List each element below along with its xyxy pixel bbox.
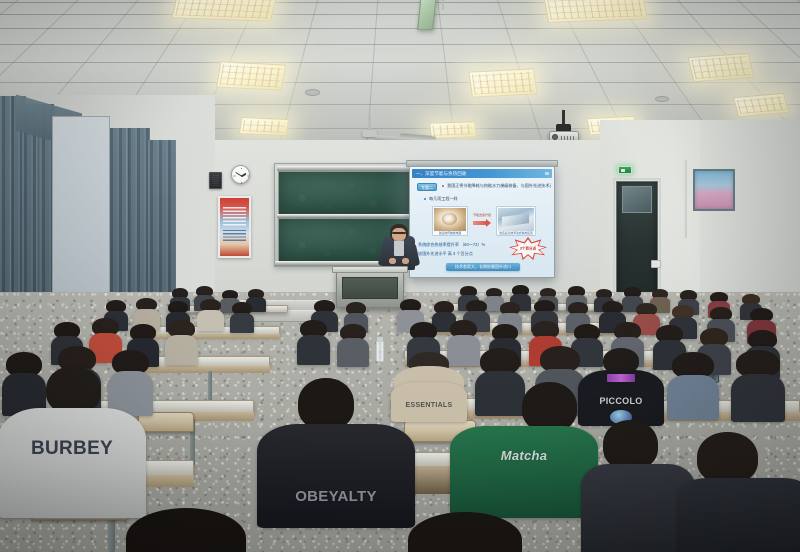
ceiling-light-7 [429, 121, 477, 139]
ceiling-light-3 [216, 61, 286, 90]
window-glass-left [52, 116, 110, 306]
lectern-top [332, 266, 408, 273]
ceiling-grid-line-h [0, 14, 800, 15]
slide-bullet-dot-1 [442, 185, 444, 187]
student-torso [667, 375, 719, 420]
slide-image-before-caption: 改造前传统换热器 [433, 231, 467, 235]
door-window [622, 186, 652, 213]
student-burbey: BURBEY [12, 366, 132, 516]
student-matcha: Matcha [464, 382, 584, 514]
student-torso [165, 335, 198, 365]
slide-image-before: 改造前传统换热器 [432, 206, 468, 236]
classroom-scene: 一、深度节能与余热回收 专题二 我国正将节能降耗与热能水力梯级装备、与国外先进技… [0, 0, 800, 552]
wall-clock [231, 165, 250, 184]
water-bottle [376, 341, 384, 362]
side-window [693, 169, 735, 211]
presenter-left-hand [389, 258, 396, 264]
student-r3-6 [340, 324, 366, 366]
student-r5-right-2 [690, 432, 800, 552]
student-head [697, 432, 759, 484]
ceiling-grid-line-h [0, 28, 800, 29]
student-torso [677, 478, 800, 552]
slide-bullet-1: 我国正将节能降耗与热能水力梯级装备、与国外先进技术还固较大 [447, 183, 551, 188]
ceiling-light-2 [542, 0, 647, 23]
student-head [298, 378, 354, 430]
student-piccolo: PICCOLO [586, 348, 656, 424]
clothing-label-essentials: ESSENTIALS [398, 402, 460, 409]
slide-bullet-2: 每几项工程一样 [429, 196, 509, 201]
student-r4-8 [672, 352, 714, 418]
student-r4-9 [736, 350, 780, 420]
ceiling-grid-line-h [0, 82, 800, 83]
ceiling-light-1 [171, 0, 278, 22]
slide-section-tag: 专题二 [417, 183, 437, 191]
clothing-label-obeyalty: OBEYALTY [272, 488, 400, 505]
wall-conduit [684, 160, 687, 238]
notice-poster [218, 196, 251, 258]
slide-transition-arrow [473, 221, 487, 225]
student-essentials: ESSENTIALS [398, 352, 460, 418]
student-head [603, 420, 658, 470]
student-torso [450, 426, 599, 518]
presenter-face [392, 228, 406, 241]
chalkboard-panel-upper [278, 171, 410, 215]
student-torso [337, 338, 369, 367]
clothing-label-burbey: BURBEY [12, 438, 132, 460]
lectern-front-panel [342, 277, 398, 299]
student-front-2 [408, 512, 522, 552]
starburst-label: 3个百分点 [509, 247, 547, 252]
slide-stat-line-1: 系统综合热效率提升率 （60～73）% [418, 242, 510, 247]
student-torso [257, 424, 416, 528]
ceiling-grid-line-h [0, 44, 800, 45]
slide-footer-banner: 技术差距大，长期依赖国外进口 [446, 263, 520, 271]
clock-center-pin [241, 175, 243, 177]
projection-screen[interactable]: 一、深度节能与余热回收 专题二 我国正将节能降耗与热能水力梯级装备、与国外先进技… [409, 166, 555, 278]
clock-mark [233, 175, 235, 176]
presenter-right-hand [402, 258, 409, 264]
clock-mark [241, 182, 242, 184]
clothing-label-matcha: Matcha [464, 448, 584, 463]
student-head [408, 512, 522, 552]
power-outlet [651, 260, 661, 268]
poster-text-rows-2 [223, 230, 246, 243]
poster-text-rows [223, 207, 246, 227]
ceiling-light-6 [239, 117, 289, 136]
presenter-glasses [392, 232, 406, 234]
clothing-label-piccolo: PICCOLO [586, 396, 656, 406]
student-head [46, 366, 101, 414]
slide-image-after: 改造后高效紧凑式换热装置 [496, 206, 536, 236]
student-head [522, 382, 577, 432]
slide-arrow-label: 节能改造升级 [473, 213, 491, 217]
ceiling-vent-2 [655, 96, 669, 102]
student-head [126, 508, 246, 552]
slide-highlight-starburst: 3个百分点 [509, 237, 547, 261]
clock-mark [241, 168, 242, 170]
heat-exchanger-new-image [498, 208, 534, 231]
clock-mark [247, 175, 249, 176]
ceiling-light-4 [468, 68, 537, 97]
student-torso [731, 374, 786, 422]
slide-image-after-caption: 改造后高效紧凑式换热装置 [497, 231, 535, 235]
student-r2-5 [232, 302, 252, 332]
emergency-exit-sign [618, 166, 632, 174]
ceiling-fan-right-rod [442, 0, 444, 10]
ceiling-grid-line-h [0, 62, 800, 63]
piccolo-graphic-patch [607, 374, 635, 382]
student-torso [0, 408, 146, 518]
ceiling-vent-1 [305, 89, 320, 96]
slide-stat-line-2: 较国外先进水平 高 3 个百分点 [418, 251, 510, 256]
student-obeyalty: OBEYALTY [272, 378, 400, 523]
slide-title: 一、深度节能与余热回收 [412, 169, 552, 178]
student-torso [230, 313, 255, 333]
student-r3-5 [300, 320, 327, 364]
ceiling-light-5 [688, 53, 755, 82]
student-front-1 [126, 508, 246, 552]
heat-exchanger-old-image [434, 208, 466, 231]
student-r5-right-1 [592, 420, 684, 552]
wall-speaker [209, 172, 222, 189]
student-torso [297, 335, 330, 365]
student-r3-4 [168, 320, 195, 364]
slide-bullet-dot-2 [424, 198, 426, 200]
presentation-slide: 一、深度节能与余热回收 专题二 我国正将节能降耗与热能水力梯级装备、与国外先进技… [410, 167, 554, 277]
water-bottle-cap [377, 337, 383, 342]
student-r2-4 [200, 299, 221, 330]
student-torso [197, 310, 223, 331]
